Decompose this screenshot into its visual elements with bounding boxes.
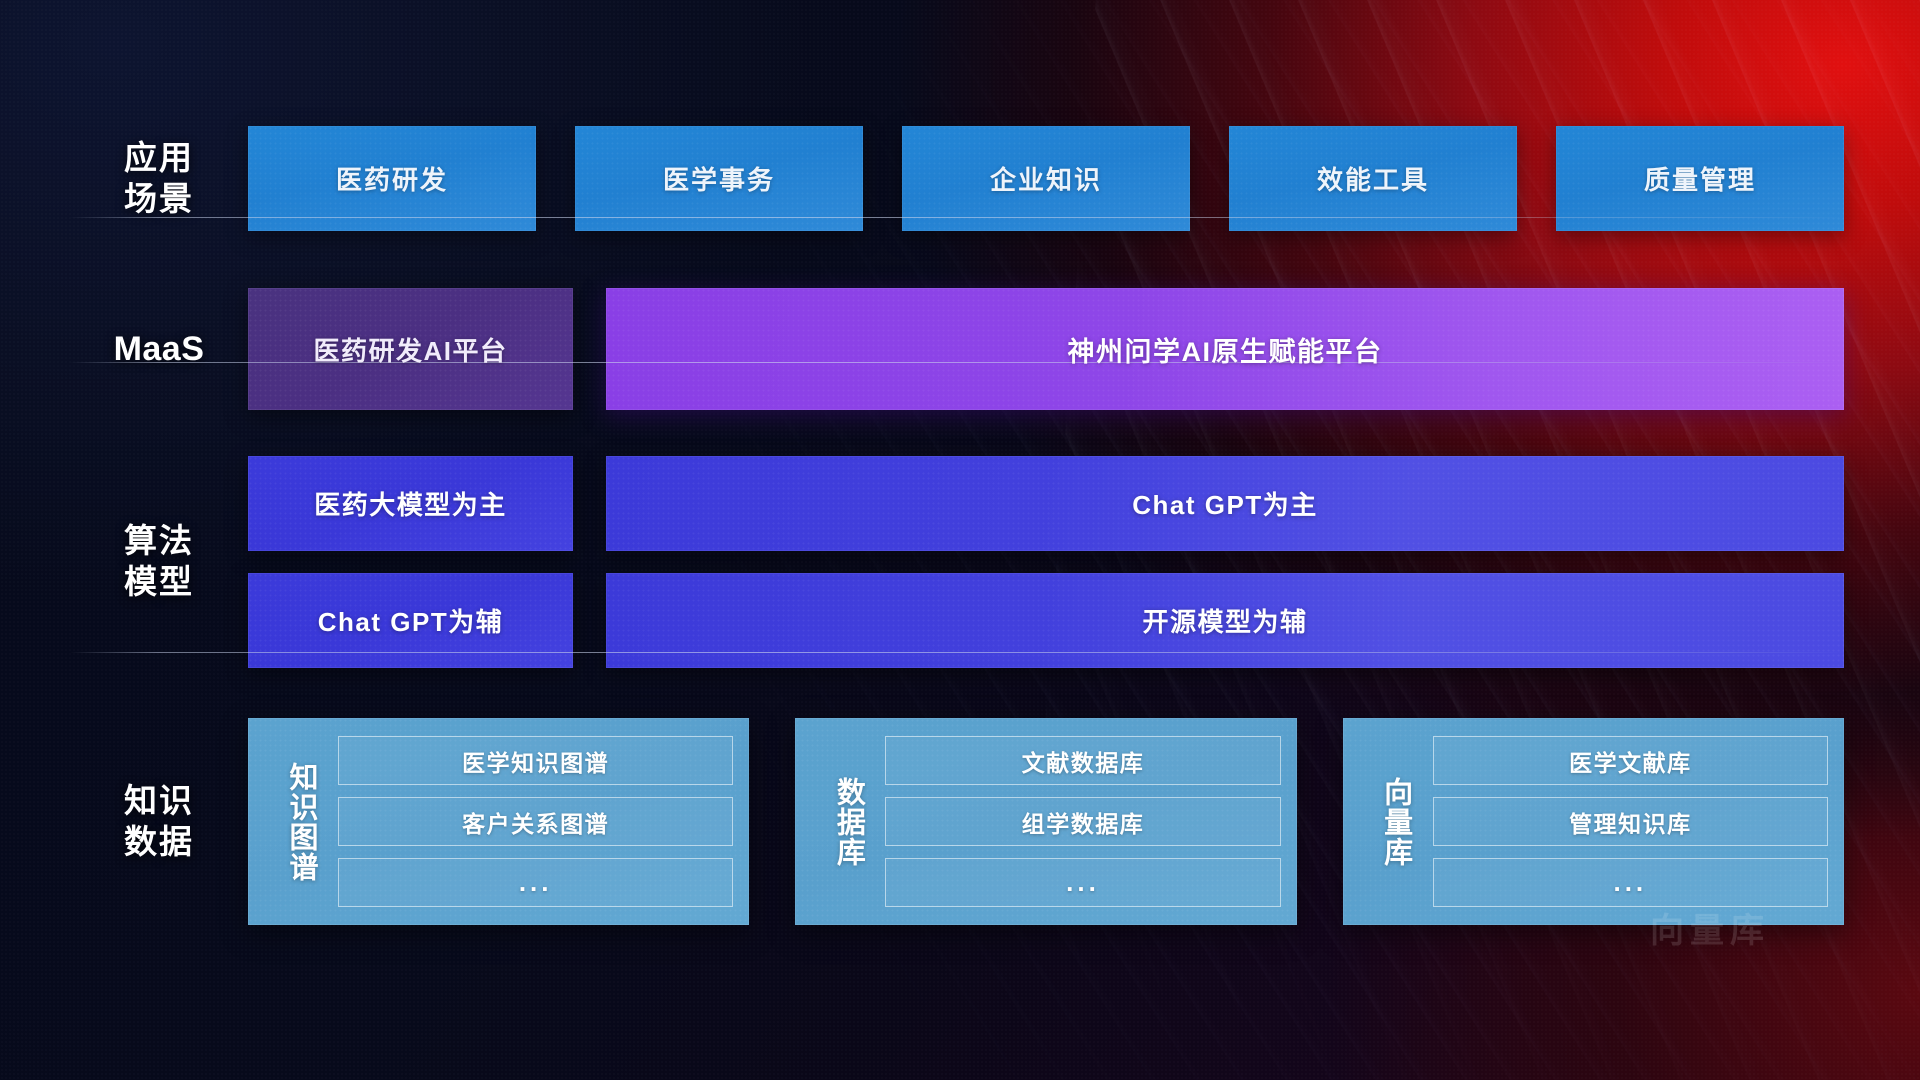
application-card-track: 医药研发 医学事务 企业知识 效能工具 质量管理 bbox=[248, 126, 1844, 231]
app-card-label: 效能工具 bbox=[1317, 160, 1429, 197]
divider-apps-maas bbox=[70, 217, 1844, 218]
knowledge-item-more[interactable]: ... bbox=[338, 858, 733, 907]
layer-label-application-scenarios: 应用 场景 bbox=[70, 138, 248, 220]
knowledge-item-more[interactable]: ... bbox=[1433, 858, 1828, 907]
app-card-medical-affairs[interactable]: 医学事务 bbox=[575, 126, 863, 231]
algorithm-card-label: Chat GPT为辅 bbox=[318, 602, 503, 639]
maas-card-label: 神州问学AI原生赋能平台 bbox=[1068, 330, 1383, 369]
knowledge-item-customer-relation-graph[interactable]: 客户关系图谱 bbox=[338, 797, 733, 846]
layer-label-maas: MaaS bbox=[70, 328, 248, 370]
algorithm-card-chatgpt-secondary[interactable]: Chat GPT为辅 bbox=[248, 573, 573, 668]
algorithm-card-label: Chat GPT为主 bbox=[1132, 485, 1317, 522]
algorithm-card-stack: 医药大模型为主 Chat GPT为主 Chat GPT为辅 开源模型为辅 bbox=[248, 456, 1844, 668]
algorithm-row-secondary: Chat GPT为辅 开源模型为辅 bbox=[248, 573, 1844, 668]
slide-canvas: 应用 场景 医药研发 医学事务 企业知识 效能工具 bbox=[0, 0, 1920, 1080]
app-card-label: 医药研发 bbox=[336, 160, 448, 197]
knowledge-item-list: 医学文献库 管理知识库 ... bbox=[1433, 736, 1828, 907]
divider-algorithm-knowledge bbox=[70, 652, 1844, 653]
app-card-label: 质量管理 bbox=[1644, 160, 1756, 197]
knowledge-item-more[interactable]: ... bbox=[885, 858, 1280, 907]
maas-card-pharma-ai-platform[interactable]: 医药研发AI平台 bbox=[248, 288, 573, 410]
algorithm-models-body: 医药大模型为主 Chat GPT为主 Chat GPT为辅 开源模型为辅 bbox=[248, 456, 1844, 668]
knowledge-item-list: 文献数据库 组学数据库 ... bbox=[885, 736, 1280, 907]
layer-knowledge-data: 知识 数据 知识图谱 医学知识图谱 客户关系图谱 ... 数据库 bbox=[70, 718, 1844, 925]
knowledge-group-vector-store[interactable]: 向量库 医学文献库 管理知识库 ... bbox=[1343, 718, 1844, 925]
app-card-pharma-rd[interactable]: 医药研发 bbox=[248, 126, 536, 231]
layer-maas: MaaS 医药研发AI平台 神州问学AI原生赋能平台 bbox=[70, 288, 1844, 410]
knowledge-item-literature-database[interactable]: 文献数据库 bbox=[885, 736, 1280, 785]
app-card-label: 企业知识 bbox=[990, 160, 1102, 197]
knowledge-group-title: 数据库 bbox=[821, 777, 865, 867]
knowledge-item-medical-knowledge-graph[interactable]: 医学知识图谱 bbox=[338, 736, 733, 785]
application-scenarios-body: 医药研发 医学事务 企业知识 效能工具 质量管理 bbox=[248, 126, 1844, 231]
algorithm-row-primary: 医药大模型为主 Chat GPT为主 bbox=[248, 456, 1844, 551]
knowledge-item-omics-database[interactable]: 组学数据库 bbox=[885, 797, 1280, 846]
algorithm-card-label: 医药大模型为主 bbox=[314, 485, 507, 522]
knowledge-group-track: 知识图谱 医学知识图谱 客户关系图谱 ... 数据库 文献数据库 组学数据库 .… bbox=[248, 718, 1844, 925]
knowledge-group-title: 知识图谱 bbox=[274, 762, 318, 882]
app-card-efficiency-tools[interactable]: 效能工具 bbox=[1229, 126, 1517, 231]
maas-card-label: 医药研发AI平台 bbox=[313, 331, 507, 368]
algorithm-card-opensource-secondary[interactable]: 开源模型为辅 bbox=[606, 573, 1844, 668]
maas-card-shenzhou-wenxue-platform[interactable]: 神州问学AI原生赋能平台 bbox=[606, 288, 1844, 410]
algorithm-card-pharma-llm-primary[interactable]: 医药大模型为主 bbox=[248, 456, 573, 551]
architecture-diagram: 应用 场景 医药研发 医学事务 企业知识 效能工具 bbox=[0, 0, 1920, 1080]
app-card-label: 医学事务 bbox=[663, 160, 775, 197]
maas-card-track: 医药研发AI平台 神州问学AI原生赋能平台 bbox=[248, 288, 1844, 410]
algorithm-card-label: 开源模型为辅 bbox=[1142, 602, 1307, 639]
maas-body: 医药研发AI平台 神州问学AI原生赋能平台 bbox=[248, 288, 1844, 410]
layer-label-algorithm-models: 算法 模型 bbox=[70, 521, 248, 603]
app-card-enterprise-knowledge[interactable]: 企业知识 bbox=[902, 126, 1190, 231]
knowledge-item-management-knowledge-store[interactable]: 管理知识库 bbox=[1433, 797, 1828, 846]
knowledge-item-medical-literature-store[interactable]: 医学文献库 bbox=[1433, 736, 1828, 785]
knowledge-group-knowledge-graph[interactable]: 知识图谱 医学知识图谱 客户关系图谱 ... bbox=[248, 718, 749, 925]
layer-application-scenarios: 应用 场景 医药研发 医学事务 企业知识 效能工具 bbox=[70, 126, 1844, 231]
knowledge-group-database[interactable]: 数据库 文献数据库 组学数据库 ... bbox=[795, 718, 1296, 925]
algorithm-card-chatgpt-primary[interactable]: Chat GPT为主 bbox=[606, 456, 1844, 551]
app-card-quality-management[interactable]: 质量管理 bbox=[1556, 126, 1844, 231]
knowledge-data-body: 知识图谱 医学知识图谱 客户关系图谱 ... 数据库 文献数据库 组学数据库 .… bbox=[248, 718, 1844, 925]
layer-label-knowledge-data: 知识 数据 bbox=[70, 781, 248, 863]
knowledge-group-title: 向量库 bbox=[1369, 777, 1413, 867]
knowledge-item-list: 医学知识图谱 客户关系图谱 ... bbox=[338, 736, 733, 907]
layer-algorithm-models: 算法 模型 医药大模型为主 Chat GPT为主 Chat GPT为辅 bbox=[70, 456, 1844, 668]
